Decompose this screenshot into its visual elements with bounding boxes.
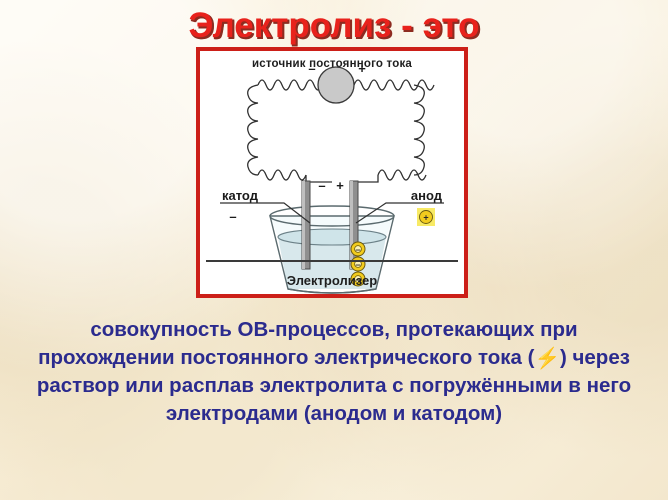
electrode-right-sign: + bbox=[336, 178, 344, 193]
definition-text: совокупность ОВ-процессов, протекающих п… bbox=[22, 316, 646, 428]
definition-line-2: прохождении постоянного электрического т… bbox=[38, 346, 522, 369]
anode-plus-badge: + bbox=[417, 208, 435, 226]
page-title: Электролиз - это bbox=[0, 6, 668, 46]
ion-1: – bbox=[351, 242, 365, 256]
label-cathode-sign: – bbox=[229, 209, 236, 224]
electrolysis-diagram: – + bbox=[200, 51, 464, 294]
anode-badge-sign: + bbox=[423, 213, 428, 223]
definition-line-1: совокупность ОВ-процессов, протекающих п… bbox=[90, 318, 577, 341]
dc-source-icon bbox=[318, 67, 354, 103]
ion-1-charge: – bbox=[355, 245, 360, 255]
label-cathode: катод bbox=[222, 188, 259, 203]
definition-line-5: катодом) bbox=[411, 402, 502, 425]
diagram-canvas: источник постоянного тока bbox=[200, 51, 464, 294]
diagram-separator bbox=[206, 260, 458, 262]
label-anode: анод bbox=[411, 188, 443, 203]
electrode-cathode bbox=[302, 181, 310, 269]
diagram-frame: источник постоянного тока bbox=[196, 47, 468, 298]
diagram-caption-bottom: Электролизер bbox=[200, 273, 464, 288]
source-plus-sign: + bbox=[358, 61, 366, 76]
source-minus-sign: – bbox=[308, 61, 315, 76]
slide-canvas: Электролиз - это источник постоянного то… bbox=[0, 0, 668, 500]
definition-line-3-prefix: ( bbox=[528, 346, 535, 369]
electrode-left-sign: – bbox=[318, 178, 325, 193]
lightning-bolt-icon: ⚡ bbox=[534, 345, 560, 373]
